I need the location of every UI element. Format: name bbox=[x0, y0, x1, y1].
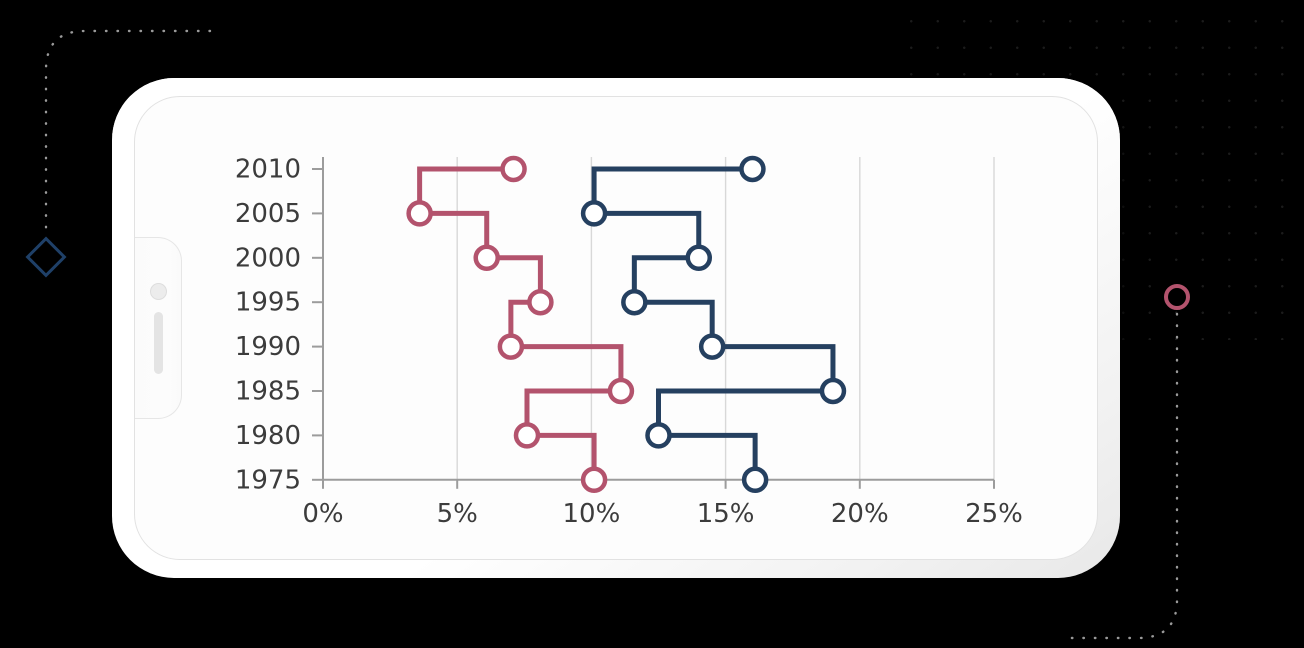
y-axis-label: 2000 bbox=[235, 243, 301, 273]
data-point-marker[interactable] bbox=[741, 158, 763, 180]
data-point-marker[interactable] bbox=[500, 336, 522, 358]
data-point-marker[interactable] bbox=[476, 247, 498, 269]
background-stage: 201020052000199519901985198019750%5%10%1… bbox=[0, 0, 1304, 648]
data-point-marker[interactable] bbox=[688, 247, 710, 269]
x-axis-label: 0% bbox=[302, 499, 343, 529]
x-axis-label: 20% bbox=[831, 499, 889, 529]
data-point-marker[interactable] bbox=[409, 202, 431, 224]
data-point-marker[interactable] bbox=[583, 469, 605, 491]
y-axis-label: 2005 bbox=[235, 199, 301, 229]
data-point-marker[interactable] bbox=[516, 424, 538, 446]
data-point-marker[interactable] bbox=[744, 469, 766, 491]
y-axis-label: 2010 bbox=[235, 155, 301, 185]
data-point-marker[interactable] bbox=[822, 380, 844, 402]
data-point-marker[interactable] bbox=[623, 291, 645, 313]
phone-screen: 201020052000199519901985198019750%5%10%1… bbox=[134, 96, 1098, 560]
data-point-marker[interactable] bbox=[529, 291, 551, 313]
circle-marker bbox=[1166, 286, 1188, 308]
y-axis-label: 1995 bbox=[235, 288, 301, 318]
data-point-marker[interactable] bbox=[583, 202, 605, 224]
data-point-marker[interactable] bbox=[610, 380, 632, 402]
y-axis-label: 1980 bbox=[235, 421, 301, 451]
data-point-marker[interactable] bbox=[503, 158, 525, 180]
x-axis-label: 10% bbox=[563, 499, 621, 529]
y-axis-label: 1975 bbox=[235, 465, 301, 495]
chart-container: 201020052000199519901985198019750%5%10%1… bbox=[135, 97, 1097, 559]
y-axis-label: 1985 bbox=[235, 377, 301, 407]
series-line bbox=[594, 169, 833, 480]
phone-mockup: 201020052000199519901985198019750%5%10%1… bbox=[112, 78, 1120, 578]
y-axis-label: 1990 bbox=[235, 332, 301, 362]
diamond-marker bbox=[28, 239, 65, 276]
data-point-marker[interactable] bbox=[701, 336, 723, 358]
x-axis-label: 15% bbox=[697, 499, 755, 529]
step-line-chart: 201020052000199519901985198019750%5%10%1… bbox=[135, 97, 1098, 560]
x-axis-label: 25% bbox=[965, 499, 1023, 529]
data-point-marker[interactable] bbox=[648, 424, 670, 446]
x-axis-label: 5% bbox=[437, 499, 478, 529]
